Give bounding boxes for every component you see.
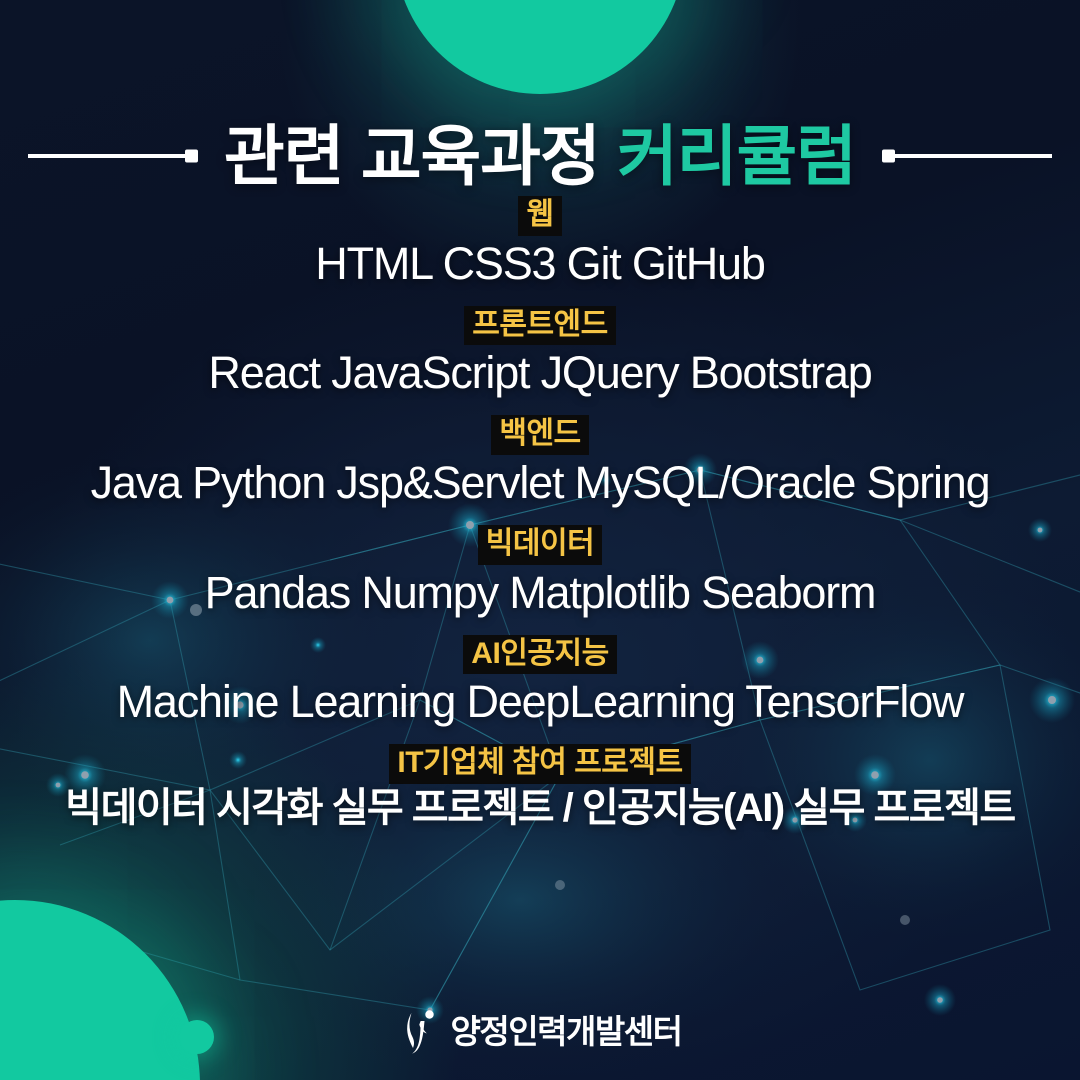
curriculum-row-ai: AI인공지능 Machine Learning DeepLearning Ten… — [24, 635, 1056, 729]
curriculum-row-text: Java Python Jsp&Servlet MySQL/Oracle Spr… — [24, 456, 1056, 509]
footer-logo: 양정인력개발센터 — [0, 1006, 1080, 1056]
poster-canvas: 관련 교육과정 커리큘럼 웹 HTML CSS3 Git GitHub 프론트엔… — [0, 0, 1080, 1080]
title-rule-right-icon — [882, 154, 1052, 158]
curriculum-tag: IT기업체 참여 프로젝트 — [389, 744, 690, 784]
curriculum-row-text: 빅데이터 시각화 실무 프로젝트 / 인공지능(AI) 실무 프로젝트 — [24, 785, 1056, 832]
curriculum-row-bigdata: 빅데이터 Pandas Numpy Matplotlib Seaborm — [24, 525, 1056, 619]
curriculum-list: 웹 HTML CSS3 Git GitHub 프론트엔드 React JavaS… — [0, 196, 1080, 848]
curriculum-row-text: HTML CSS3 Git GitHub — [24, 237, 1056, 290]
curriculum-tag: 프론트엔드 — [464, 306, 616, 346]
curriculum-row-frontend: 프론트엔드 React JavaScript JQuery Bootstrap — [24, 306, 1056, 400]
title-rule-left-icon — [28, 154, 198, 158]
curriculum-row-text: Machine Learning DeepLearning TensorFlow — [24, 675, 1056, 728]
page-title-accent: 커리큘럼 — [617, 119, 856, 193]
page-title: 관련 교육과정 커리큘럼 — [224, 123, 856, 189]
curriculum-tag: 백엔드 — [491, 415, 588, 455]
yangjeong-leaf-logo-icon — [399, 1006, 441, 1056]
curriculum-tag: 웹 — [518, 196, 561, 236]
curriculum-tag: AI인공지능 — [463, 635, 616, 675]
curriculum-row-text: React JavaScript JQuery Bootstrap — [24, 346, 1056, 399]
curriculum-row-text: Pandas Numpy Matplotlib Seaborm — [24, 566, 1056, 619]
curriculum-row-backend: 백엔드 Java Python Jsp&Servlet MySQL/Oracle… — [24, 415, 1056, 509]
curriculum-row-web: 웹 HTML CSS3 Git GitHub — [24, 196, 1056, 290]
teal-circle-top-decoration — [395, 0, 685, 94]
curriculum-tag: 빅데이터 — [478, 525, 602, 565]
page-title-primary: 관련 교육과정 — [224, 119, 600, 193]
curriculum-row-project: IT기업체 참여 프로젝트 빅데이터 시각화 실무 프로젝트 / 인공지능(AI… — [24, 744, 1056, 832]
footer-logo-text: 양정인력개발센터 — [451, 1015, 682, 1048]
